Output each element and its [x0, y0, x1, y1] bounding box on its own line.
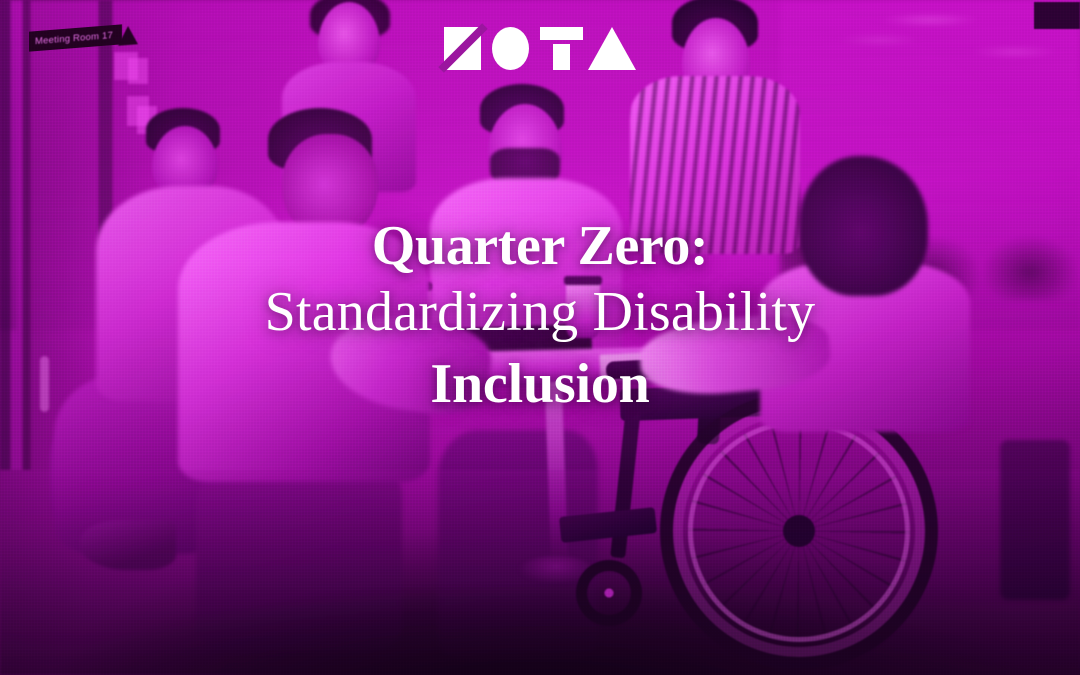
wheelchair-hub	[783, 515, 815, 547]
meeting-room-sign-label: Meeting Room 17	[29, 30, 113, 48]
triangle-up-icon	[118, 25, 138, 46]
title-block: Quarter Zero: Standardizing Disability I…	[0, 218, 1080, 412]
triangle-icon	[588, 27, 636, 70]
square-with-diagonal-icon	[444, 27, 481, 70]
circle-icon	[492, 27, 529, 70]
wheelchair-caster-wheel	[576, 560, 642, 626]
hero-banner: Meeting Room 17	[0, 0, 1080, 675]
nota-logo	[444, 24, 636, 72]
wheelchair-rear-structure	[1000, 440, 1070, 600]
title-line-3: Inclusion	[40, 356, 1040, 412]
title-line-2: Standardizing Disability	[40, 284, 1040, 340]
t-bar-icon	[540, 27, 577, 70]
ceiling-sign	[1034, 2, 1080, 29]
title-line-1: Quarter Zero:	[40, 218, 1040, 274]
